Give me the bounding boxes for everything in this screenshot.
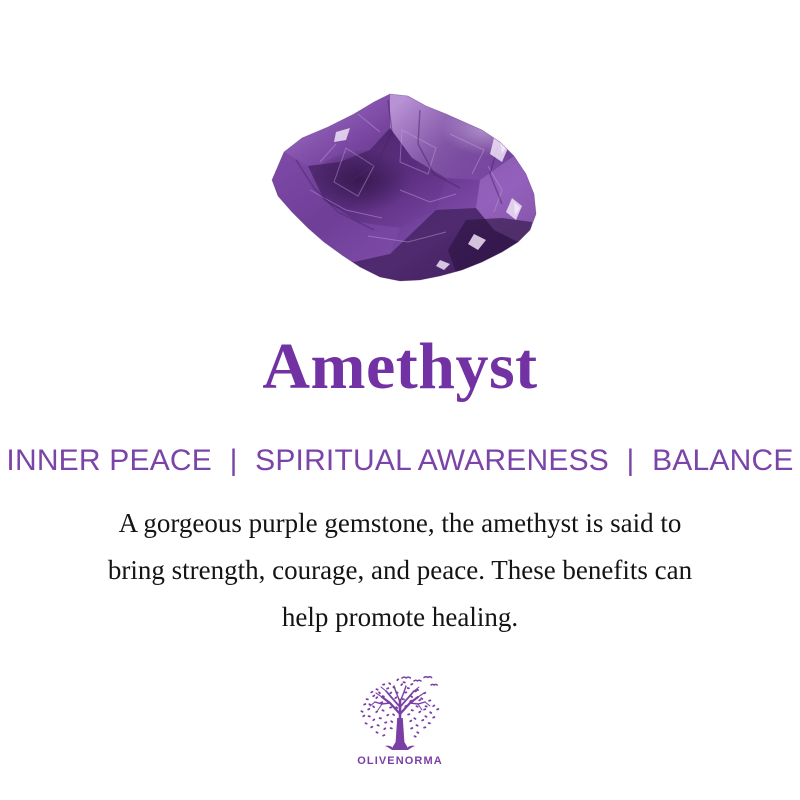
keyword-balance: BALANCE [652,444,793,477]
description-line-2: bring strength, courage, and peace. Thes… [50,547,750,594]
description-line-1: A gorgeous purple gemstone, the amethyst… [50,500,750,547]
product-info-card: Amethyst INNER PEACE | SPIRITUAL AWARENE… [0,0,800,800]
page-title: Amethyst [0,334,800,400]
keyword-separator-2: | [618,444,644,477]
amethyst-crystal-illustration [250,70,550,300]
description-line-3: help promote healing. [50,594,750,641]
tree-canopy [360,677,439,750]
keyword-separator-1: | [221,444,247,477]
keywords-line: INNER PEACE | SPIRITUAL AWARENESS | BALA… [0,444,800,478]
birds-icon [402,677,437,685]
keyword-spiritual-awareness: SPIRITUAL AWARENESS [255,444,609,477]
brand-name: OLIVENORMA [357,755,443,767]
tree-of-life-icon [352,676,448,754]
keyword-inner-peace: INNER PEACE [6,444,212,477]
amethyst-stone-image [0,62,800,307]
stone-body [250,70,550,300]
product-description: A gorgeous purple gemstone, the amethyst… [50,500,750,641]
brand-logo: OLIVENORMA [0,676,800,767]
